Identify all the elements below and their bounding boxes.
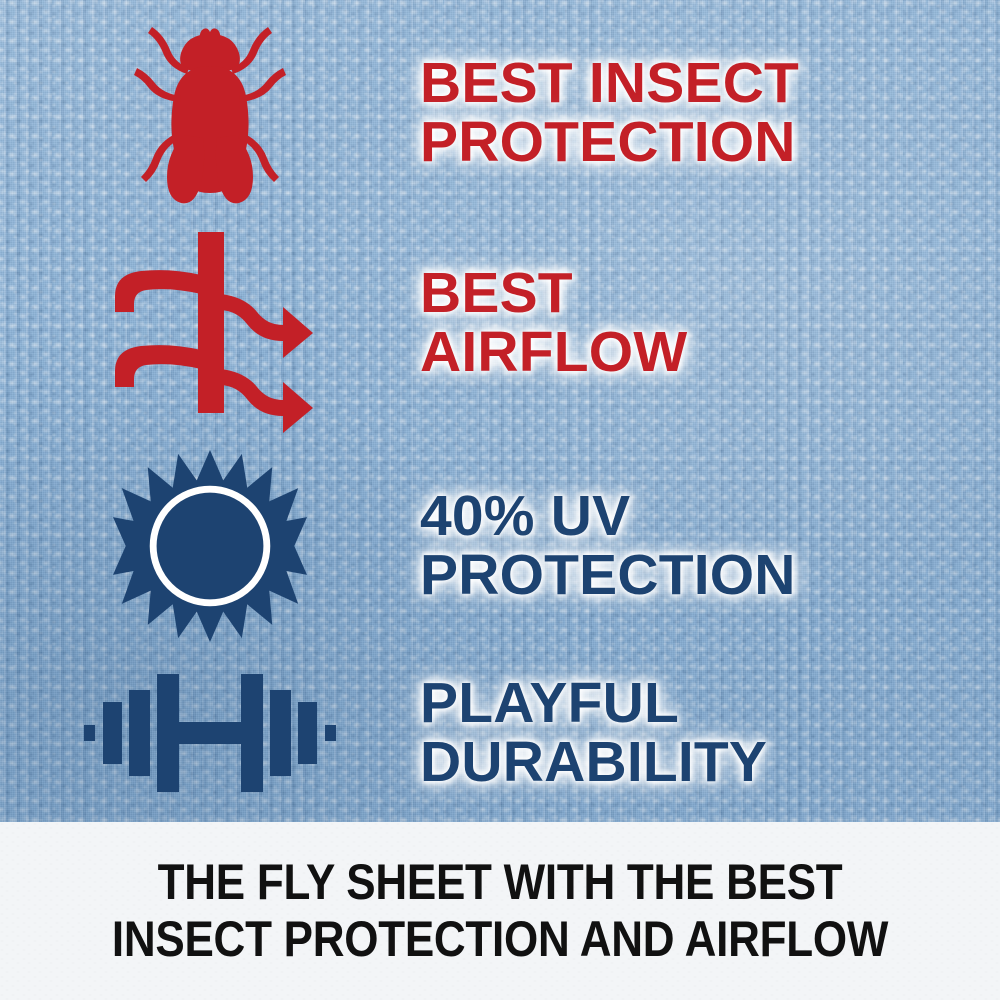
caption-line-2: INSECT PROTECTION AND AIRFLOW [112, 911, 888, 969]
dumbbell-icon [84, 672, 336, 794]
airflow-arrows-icon [105, 230, 315, 415]
feature-row-durability: PLAYFUL DURABILITY [0, 650, 1000, 815]
icon-cell-airflow [0, 230, 420, 415]
feature-label-durability-line2: DURABILITY [420, 733, 1000, 792]
label-cell-insect: BEST INSECT PROTECTION [420, 54, 1000, 171]
label-cell-airflow: BEST AIRFLOW [420, 264, 1000, 381]
feature-label-uv-line2: PROTECTION [420, 546, 1000, 605]
feature-label-insect-line1: BEST INSECT [420, 54, 1000, 113]
feature-label-insect-line2: PROTECTION [420, 113, 1000, 172]
feature-row-airflow: BEST AIRFLOW [0, 225, 1000, 420]
icon-cell-durability [0, 672, 420, 794]
label-cell-uv: 40% UV PROTECTION [420, 487, 1000, 604]
caption-line-1: THE FLY SHEET WITH THE BEST [158, 854, 843, 912]
feature-label-uv-line1: 40% UV [420, 487, 1000, 546]
fly-icon [135, 20, 285, 205]
icon-cell-insect [0, 20, 420, 205]
feature-list: BEST INSECT PROTECTION [0, 0, 1000, 822]
feature-label-airflow-line2: AIRFLOW [420, 323, 1000, 382]
feature-label-durability-line1: PLAYFUL [420, 674, 1000, 733]
feature-row-insect-protection: BEST INSECT PROTECTION [0, 10, 1000, 215]
label-cell-durability: PLAYFUL DURABILITY [420, 674, 1000, 791]
infographic-poster: BEST INSECT PROTECTION [0, 0, 1000, 1000]
sun-icon [112, 448, 308, 644]
caption-bar: THE FLY SHEET WITH THE BEST INSECT PROTE… [0, 822, 1000, 1000]
feature-row-uv-protection: 40% UV PROTECTION [0, 438, 1000, 653]
icon-cell-uv [0, 448, 420, 644]
feature-label-airflow-line1: BEST [420, 264, 1000, 323]
